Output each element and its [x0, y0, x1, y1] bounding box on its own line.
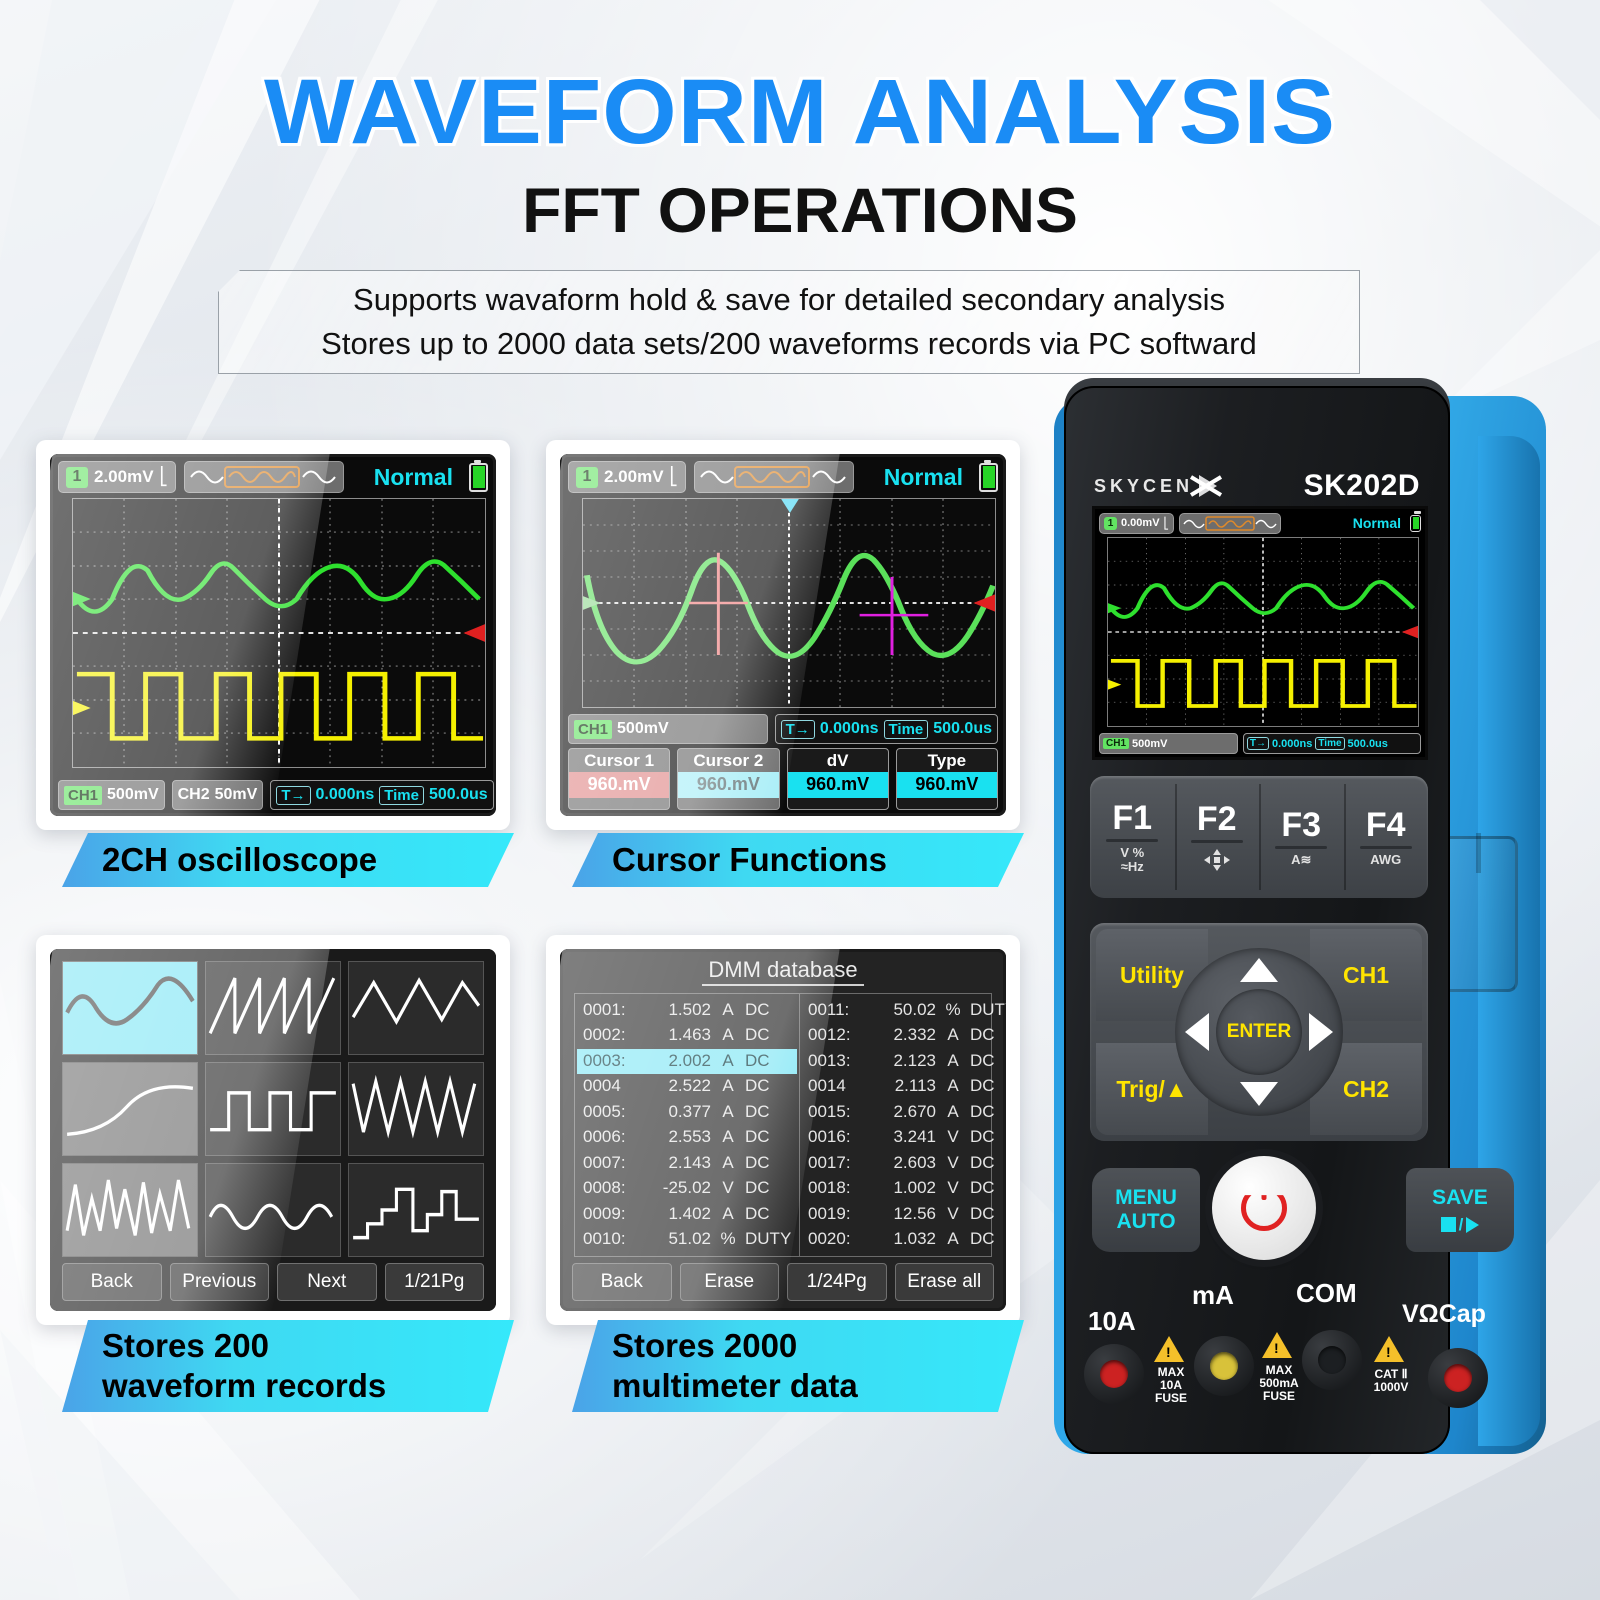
waveform-thumb-s-curve[interactable] [62, 1062, 198, 1156]
waveform-preview-icon [699, 465, 849, 489]
page-indicator[interactable]: 1/21Pg [385, 1263, 485, 1301]
terminal-jack-ma[interactable] [1194, 1336, 1254, 1396]
waveform-preview-icon [1182, 516, 1278, 531]
cursor-traces [583, 499, 995, 707]
waveform-thumb-sine[interactable] [62, 961, 198, 1055]
f4-label: F4 [1366, 808, 1406, 842]
ch1-tag: CH1 [574, 720, 612, 739]
dmm-cell-unit: % [936, 998, 970, 1023]
waveform-preview-selector[interactable] [694, 461, 854, 493]
device-trig-value: 0.000ns [1272, 738, 1312, 750]
volt-percent-icon: V % ≈Hz [1120, 846, 1144, 873]
dmm-cell-id: 0018: [808, 1176, 870, 1201]
warning-text-1: MAX 10A FUSE [1142, 1366, 1200, 1405]
dmm-cell-type: DC [745, 1202, 791, 1227]
dmm-cell-id: 0005: [583, 1100, 645, 1125]
type-label: Type [897, 749, 997, 772]
divider [1191, 840, 1243, 843]
panel-oscilloscope: 1 2.00mV ⎣ Normal [36, 440, 510, 830]
dmm-row[interactable]: 0007:2.143ADC [577, 1151, 797, 1176]
device-brand-bar: SKYCEN SK202D [1094, 466, 1420, 506]
waveform-records-buttons: Back Previous Next 1/21Pg [62, 1263, 484, 1301]
device-volts-div: 0.00mV [1121, 517, 1160, 529]
trigger-position-tag: T→ [781, 720, 815, 739]
waveform-thumb-noise[interactable] [62, 1163, 198, 1257]
dmm-cell-unit: % [711, 1227, 745, 1252]
feature-description-box: Supports wavaform hold & save for detail… [218, 270, 1360, 374]
time-tag: Time [379, 786, 424, 805]
dmm-row[interactable]: 0006:2.553ADC [577, 1125, 797, 1150]
ch2-status[interactable]: CH2 50mV [172, 780, 264, 810]
scope-header: 1 2.00mV ⎣ Normal [58, 460, 488, 494]
trigger-position-value: 0.000ns [820, 720, 879, 738]
dmm-cell-value: 2.002 [645, 1049, 711, 1074]
dmm-title: DMM database [560, 957, 1006, 983]
scope-traces [73, 499, 485, 767]
channel-number: 1 [576, 467, 598, 488]
right-arrow-icon[interactable] [1309, 1013, 1333, 1051]
cursor-header: 1 2.00mV ⎣ Normal [568, 460, 998, 494]
menu-auto-button[interactable]: MENU AUTO [1092, 1168, 1200, 1252]
terminal-jack-com[interactable] [1302, 1330, 1362, 1390]
terminal-area: 10A mA COM VΩCap MAX 10A FUSE MAX 500mA … [1080, 1278, 1532, 1428]
move-arrows-icon [1202, 847, 1232, 873]
type-value: 960.mV [897, 772, 997, 798]
dmm-cell-id: 0010: [583, 1227, 645, 1252]
dmm-cell-id: 0013: [808, 1049, 870, 1074]
channel-scale-pill[interactable]: 1 2.00mV ⎣ [568, 461, 686, 493]
awg-icon: AWG [1370, 853, 1401, 867]
navigation-pad: Utility CH1 Trig/▲ CH2 ENTER [1090, 923, 1428, 1141]
battery-full-icon [979, 463, 998, 492]
f1-button[interactable]: F1 V % ≈Hz [1090, 776, 1175, 898]
cursor-2-value: 960.mV [678, 772, 778, 798]
f3-button[interactable]: F3 A≋ [1259, 776, 1344, 898]
time-value: 500.0us [933, 720, 992, 738]
device-sk202d: SKYCEN SK202D 1 0.00mV ⎣ Normal [1040, 378, 1560, 1468]
caption-dmm: Stores 2000 multimeter data [572, 1320, 1024, 1412]
dmm-cell-id: 0014 [808, 1074, 870, 1099]
menu-label: MENU [1115, 1186, 1177, 1210]
cursor-status-bar: CH1 500mV T→ 0.000ns Time 500.0us [568, 714, 998, 744]
waveform-thumb-square[interactable] [205, 1062, 341, 1156]
terminal-jack-10a[interactable] [1084, 1344, 1144, 1404]
dmm-cell-unit: A [711, 1049, 745, 1074]
dmm-cell-id: 0007: [583, 1151, 645, 1176]
dmm-row[interactable]: 0008:-25.02VDC [577, 1176, 797, 1201]
dmm-cell-id: 0006: [583, 1125, 645, 1150]
dmm-cell-value: 12.56 [870, 1202, 936, 1227]
dmm-cell-unit: A [936, 1074, 970, 1099]
f2-button[interactable]: F2 [1175, 776, 1260, 898]
dv-label: dV [788, 749, 888, 772]
device-channel-pill[interactable]: 1 0.00mV ⎣ [1099, 513, 1174, 534]
trigger-position-tag: T→ [276, 786, 310, 805]
terminal-label-vohmcap: VΩCap [1402, 1300, 1486, 1329]
save-button[interactable]: SAVE / [1406, 1168, 1514, 1252]
f3-label: F3 [1281, 808, 1321, 842]
dmm-row[interactable]: 00042.522ADC [577, 1074, 797, 1099]
dv-value: 960.mV [788, 772, 888, 798]
dmm-cell-value: 1.002 [870, 1176, 936, 1201]
dmm-cell-unit: A [711, 1151, 745, 1176]
oscilloscope-screen: 1 2.00mV ⎣ Normal [50, 454, 496, 816]
device-time-tag: Time [1315, 737, 1344, 750]
dmm-cell-id: 0015: [808, 1100, 870, 1125]
dmm-cell-value: 50.02 [870, 998, 936, 1023]
type-readout[interactable]: Type 960.mV [896, 748, 998, 810]
power-icon [1241, 1185, 1287, 1231]
direction-pad[interactable]: ENTER [1175, 948, 1343, 1116]
dmm-row[interactable]: 0016:3.241VDC [802, 1125, 1006, 1150]
ch1-value: 500mV [617, 720, 669, 738]
dmm-cell-type: DC [970, 1202, 1006, 1227]
dmm-cell-value: 2.603 [870, 1151, 936, 1176]
dmm-cell-value: 2.553 [645, 1125, 711, 1150]
dmm-cell-type: DC [745, 1049, 791, 1074]
dmm-row[interactable]: 0019:12.56VDC [802, 1202, 1006, 1227]
terminal-label-10a: 10A [1088, 1306, 1136, 1337]
back-button[interactable]: Back [572, 1263, 672, 1301]
dmm-cell-unit: A [711, 1125, 745, 1150]
dmm-cell-value: 1.463 [645, 1023, 711, 1048]
ch2-tag: CH2 [178, 786, 210, 804]
caption-waveform-records: Stores 200 waveform records [62, 1320, 514, 1412]
dmm-cell-id: 0002: [583, 1023, 645, 1048]
cursor-1-label: Cursor 1 [569, 749, 669, 772]
dmm-cell-type: DC [970, 1100, 1006, 1125]
device-trigger-mode: Normal [1353, 515, 1401, 531]
dmm-row[interactable]: 0018:1.002VDC [802, 1176, 1006, 1201]
panel-waveform-records: Back Previous Next 1/21Pg [36, 935, 510, 1325]
dmm-column-right: 0011:50.02%DUTY0012:2.332ADC0013:2.123AD… [799, 994, 1006, 1256]
scope-grid [72, 498, 486, 768]
dmm-cell-unit: V [711, 1176, 745, 1201]
dmm-cell-value: 0.377 [645, 1100, 711, 1125]
dmm-row[interactable]: 0017:2.603VDC [802, 1151, 1006, 1176]
battery-full-icon [1410, 515, 1421, 532]
erase-all-button[interactable]: Erase all [895, 1263, 995, 1301]
dmm-cell-unit: V [936, 1151, 970, 1176]
dmm-cell-value: 2.522 [645, 1074, 711, 1099]
dmm-cell-id: 0016: [808, 1125, 870, 1150]
rising-edge-icon: ⎣ [670, 467, 679, 487]
waveform-preview-selector[interactable] [184, 461, 344, 493]
cursor-grid [582, 498, 996, 708]
channel-scale-pill[interactable]: 1 2.00mV ⎣ [58, 461, 176, 493]
dmm-cell-unit: A [936, 1023, 970, 1048]
dmm-cell-value: 2.113 [870, 1074, 936, 1099]
dmm-row[interactable]: 0005:0.377ADC [577, 1100, 797, 1125]
dmm-cell-type: DC [745, 1176, 791, 1201]
device-ch1-status[interactable]: CH1 500mV [1099, 733, 1238, 754]
trigger-mode: Normal [374, 464, 453, 491]
dmm-cell-unit: V [936, 1202, 970, 1227]
scope-footer: CH1 500mV CH2 50mV T→ 0.000ns Time 500.0… [58, 780, 488, 810]
dmm-row[interactable]: 0002:1.463ADC [577, 1023, 797, 1048]
volts-per-div: 2.00mV [94, 467, 154, 487]
dmm-row[interactable]: 0013:2.123ADC [802, 1049, 1006, 1074]
waveform-thumbnail-grid [62, 961, 484, 1257]
cursor-2-readout[interactable]: Cursor 2 960.mV [677, 748, 779, 810]
dmm-cell-unit: V [936, 1125, 970, 1150]
caption-line-2: multimeter data [612, 1366, 1024, 1406]
dmm-cell-value: 2.123 [870, 1049, 936, 1074]
dmm-cell-id: 0011: [808, 998, 870, 1023]
down-arrow-icon[interactable] [1240, 1082, 1278, 1106]
dmm-cell-type: DUTY [745, 1227, 791, 1252]
caption-line-1: Stores 2000 [612, 1326, 1024, 1366]
dmm-cell-value: 1.502 [645, 998, 711, 1023]
device-ch1-value: 500mV [1132, 738, 1167, 750]
previous-button[interactable]: Previous [170, 1263, 270, 1301]
dmm-cell-id: 0003: [583, 1049, 645, 1074]
dmm-column-left: 0001:1.502ADC0002:1.463ADC0003:2.002ADC0… [575, 994, 799, 1256]
warning-icon-1 [1154, 1336, 1184, 1362]
dmm-cell-type: DUTY [970, 998, 1006, 1023]
left-arrow-icon[interactable] [1185, 1013, 1209, 1051]
erase-button[interactable]: Erase [680, 1263, 780, 1301]
dmm-cell-type: DC [970, 1151, 1006, 1176]
ch2-value: 50mV [215, 786, 258, 804]
caption-line-2: waveform records [102, 1366, 514, 1406]
waveform-preview-icon [189, 465, 339, 489]
cursor-screen: 1 2.00mV ⎣ Normal [560, 454, 1006, 816]
f1-sub2: ≈Hz [1121, 859, 1144, 874]
cursor-1-value: 960.mV [569, 772, 669, 798]
device-time-value: 500.0us [1348, 738, 1388, 750]
terminal-label-ma: mA [1192, 1280, 1234, 1311]
waveform-thumb-triangle[interactable] [348, 961, 484, 1055]
current-ac-icon: A≋ [1291, 853, 1311, 867]
dmm-row[interactable]: 0015:2.670ADC [802, 1100, 1006, 1125]
waveform-thumb-sine-fast[interactable] [205, 1163, 341, 1257]
device-scope-traces [1108, 538, 1418, 726]
page-indicator[interactable]: 1/24Pg [787, 1263, 887, 1301]
warning-icon-2 [1262, 1332, 1292, 1358]
channel-number: 1 [66, 467, 88, 488]
dmm-row[interactable]: 0001:1.502ADC [577, 998, 797, 1023]
dmm-cell-type: DC [970, 1176, 1006, 1201]
dmm-row[interactable]: 0011:50.02%DUTY [802, 998, 1006, 1023]
logo-x-icon [1187, 471, 1227, 501]
dmm-cell-value: 2.143 [645, 1151, 711, 1176]
feature-line-1: Supports wavaform hold & save for detail… [353, 278, 1225, 322]
dmm-cell-type: DC [970, 1125, 1006, 1150]
ch1-status[interactable]: CH1 500mV [58, 780, 165, 810]
dmm-buttons: Back Erase 1/24Pg Erase all [572, 1263, 994, 1301]
feature-line-2: Stores up to 2000 data sets/200 waveform… [321, 322, 1257, 366]
cursor-1-readout[interactable]: Cursor 1 960.mV [568, 748, 670, 810]
rising-edge-icon: ⎣ [160, 467, 169, 487]
device-ch1-tag: CH1 [1103, 738, 1129, 749]
device-model: SK202D [1304, 469, 1420, 503]
auto-label: AUTO [1116, 1210, 1175, 1234]
dmm-cell-type: DC [745, 1151, 791, 1176]
brand-logo: SKYCEN [1094, 476, 1193, 497]
caption-oscilloscope: 2CH oscilloscope [62, 833, 514, 887]
dmm-cell-id: 0019: [808, 1202, 870, 1227]
dmm-cell-type: DC [745, 1125, 791, 1150]
dmm-cell-value: 51.02 [645, 1227, 711, 1252]
device-trig-tag: T→ [1247, 737, 1269, 750]
waveform-thumb-staircase[interactable] [348, 1163, 484, 1257]
dmm-row[interactable]: 0003:2.002ADC [577, 1049, 797, 1074]
terminal-jack-vohmcap[interactable] [1428, 1348, 1488, 1408]
caption-text: Cursor Functions [612, 841, 1024, 879]
dmm-cell-id: 0001: [583, 998, 645, 1023]
caption-line-1: Stores 200 [102, 1326, 514, 1366]
dmm-cell-value: 2.670 [870, 1100, 936, 1125]
dmm-cell-id: 0012: [808, 1023, 870, 1048]
ch1-value: 500mV [107, 786, 159, 804]
up-arrow-icon[interactable] [1240, 958, 1278, 982]
dmm-cell-type: DC [970, 1049, 1006, 1074]
page-title: WAVEFORM ANALYSIS [0, 60, 1600, 165]
dmm-cell-unit: V [936, 1176, 970, 1201]
dmm-cell-id: 0004 [583, 1074, 645, 1099]
dmm-row[interactable]: 00142.113ADC [802, 1074, 1006, 1099]
dmm-row[interactable]: 0010:51.02%DUTY [577, 1227, 797, 1252]
dmm-cell-unit: A [936, 1100, 970, 1125]
dmm-screen: DMM database 0001:1.502ADC0002:1.463ADC0… [560, 949, 1006, 1311]
rising-edge-icon: ⎣ [1164, 517, 1170, 530]
dmm-cell-unit: A [711, 1100, 745, 1125]
dmm-cell-unit: A [936, 1049, 970, 1074]
next-button[interactable]: Next [277, 1263, 377, 1301]
cursor-2-label: Cursor 2 [678, 749, 778, 772]
run-stop-icon: / [1441, 1215, 1480, 1235]
device-scope-grid [1107, 537, 1419, 727]
device-status-bar: CH1 500mV T→ 0.000ns Time 500.0us [1099, 733, 1421, 753]
ch1-tag: CH1 [64, 786, 102, 805]
warning-text-2: MAX 500mA FUSE [1248, 1364, 1310, 1403]
divider [1275, 846, 1327, 849]
dmm-row[interactable]: 0012:2.332ADC [802, 1023, 1006, 1048]
dmm-cell-type: DC [970, 1227, 1006, 1252]
dmm-cell-type: DC [745, 1100, 791, 1125]
dmm-cell-id: 0009: [583, 1202, 645, 1227]
warning-text-3: CAT Ⅱ 1000V [1362, 1368, 1420, 1394]
dmm-cell-type: DC [970, 1023, 1006, 1048]
timebase-status[interactable]: T→ 0.000ns Time 500.0us [270, 780, 493, 810]
dmm-cell-type: DC [745, 998, 791, 1023]
save-label: SAVE [1432, 1186, 1488, 1210]
dmm-cell-id: 0008: [583, 1176, 645, 1201]
enter-button[interactable]: ENTER [1216, 989, 1302, 1075]
battery-full-icon [469, 463, 488, 492]
f2-label: F2 [1197, 802, 1237, 836]
dv-readout[interactable]: dV 960.mV [787, 748, 889, 810]
terminal-label-com: COM [1296, 1278, 1357, 1309]
device-waveform-preview[interactable] [1179, 513, 1281, 534]
dmm-cell-unit: A [711, 998, 745, 1023]
dmm-cell-type: DC [745, 1023, 791, 1048]
f1-label: F1 [1112, 801, 1152, 835]
dmm-cell-type: DC [970, 1074, 1006, 1099]
page-subtitle: FFT OPERATIONS [0, 175, 1600, 247]
device-screen: 1 0.00mV ⎣ Normal [1092, 506, 1428, 760]
dmm-cell-id: 0020: [808, 1227, 870, 1252]
ch1-status[interactable]: CH1 500mV [568, 714, 768, 744]
cursor-readout-row: Cursor 1 960.mV Cursor 2 960.mV dV 960.m… [568, 748, 998, 810]
dmm-cell-unit: A [936, 1227, 970, 1252]
dmm-row[interactable]: 0009:1.402ADC [577, 1202, 797, 1227]
panel-dmm-database: DMM database 0001:1.502ADC0002:1.463ADC0… [546, 935, 1020, 1325]
divider [1360, 846, 1412, 849]
f4-button[interactable]: F4 AWG [1344, 776, 1429, 898]
caption-text: 2CH oscilloscope [102, 841, 514, 879]
caption-cursor: Cursor Functions [572, 833, 1024, 887]
waveform-thumb-sawtooth[interactable] [205, 961, 341, 1055]
waveform-thumb-triangle-fast[interactable] [348, 1062, 484, 1156]
dmm-cell-value: 1.032 [870, 1227, 936, 1252]
dmm-cell-id: 0017: [808, 1151, 870, 1176]
dmm-title-text: DMM database [702, 957, 863, 986]
device-channel-number: 1 [1104, 517, 1117, 530]
dmm-cell-value: 3.241 [870, 1125, 936, 1150]
dmm-cell-type: DC [745, 1074, 791, 1099]
panel-cursor: 1 2.00mV ⎣ Normal [546, 440, 1020, 830]
time-tag: Time [884, 720, 929, 739]
volts-per-div: 2.00mV [604, 467, 664, 487]
power-button[interactable] [1212, 1156, 1316, 1260]
warning-icon-3 [1374, 1336, 1404, 1362]
time-value: 500.0us [429, 786, 488, 804]
dmm-cell-unit: A [711, 1202, 745, 1227]
waveform-records-screen: Back Previous Next 1/21Pg [50, 949, 496, 1311]
timebase-status[interactable]: T→ 0.000ns Time 500.0us [775, 714, 998, 744]
back-button[interactable]: Back [62, 1263, 162, 1301]
function-key-row: F1 V % ≈Hz F2 F3 A≋ F4 AWG [1090, 776, 1428, 898]
dmm-cell-value: -25.02 [645, 1176, 711, 1201]
dmm-cell-unit: A [711, 1023, 745, 1048]
divider [1106, 839, 1158, 842]
trigger-mode: Normal [884, 464, 963, 491]
dmm-row[interactable]: 0020:1.032ADC [802, 1227, 1006, 1252]
trigger-position-value: 0.000ns [316, 786, 375, 804]
dmm-table: 0001:1.502ADC0002:1.463ADC0003:2.002ADC0… [574, 993, 992, 1257]
dmm-cell-unit: A [711, 1074, 745, 1099]
dmm-cell-value: 1.402 [645, 1202, 711, 1227]
dmm-cell-value: 2.332 [870, 1023, 936, 1048]
device-screen-header: 1 0.00mV ⎣ Normal [1099, 512, 1421, 534]
device-timebase-status[interactable]: T→ 0.000ns Time 500.0us [1243, 733, 1421, 754]
